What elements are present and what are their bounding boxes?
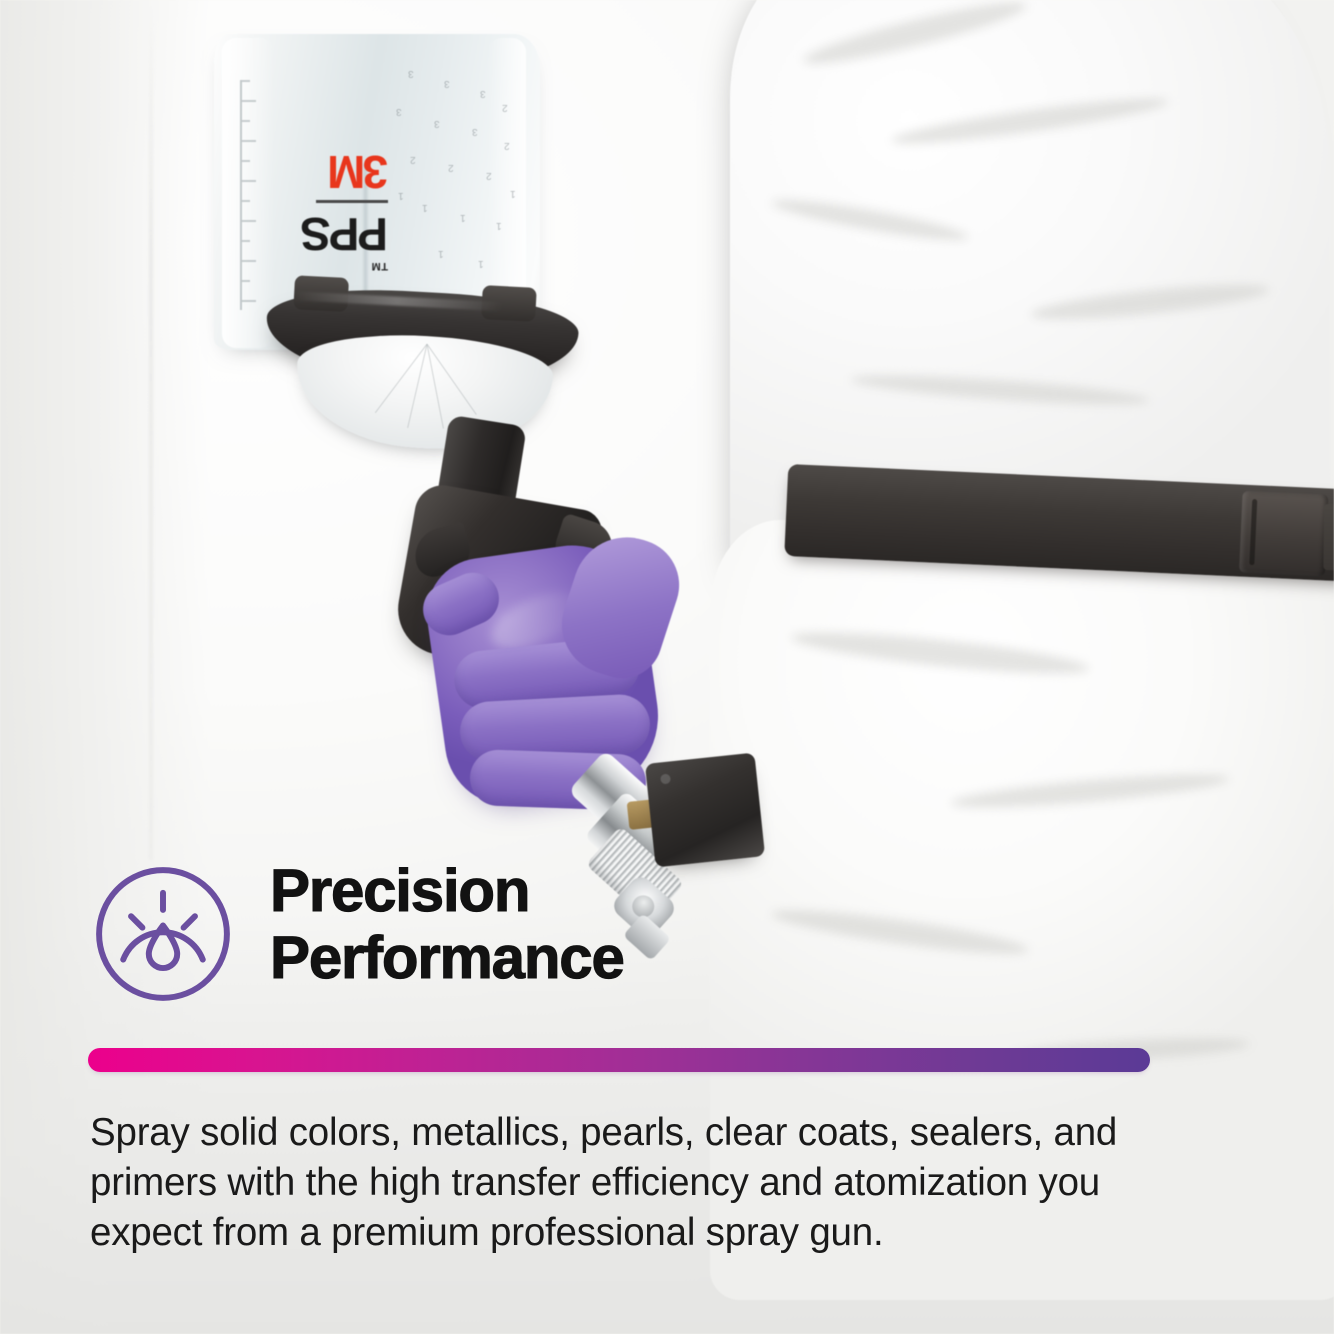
gauge-droplet-icon [92, 863, 234, 1005]
headline-line-2: Performance [270, 924, 624, 991]
text-overlay: Precision Performance Spray solid colors… [0, 0, 1334, 1334]
body-line-1: Spray solid colors, metallics, pearls, c… [90, 1108, 1200, 1158]
body-line-3: expect from a premium professional spray… [90, 1208, 1200, 1258]
product-feature-card: TM PPS 3M 33 33 33 22 22 21 11 11 11 FL. [0, 0, 1334, 1334]
body-copy: Spray solid colors, metallics, pearls, c… [90, 1108, 1200, 1258]
page-title: Precision Performance [270, 855, 624, 991]
headline-row: Precision Performance [92, 855, 752, 1025]
headline-line-1: Precision [270, 857, 624, 924]
gradient-rule [88, 1048, 1150, 1072]
body-line-2: primers with the high transfer efficienc… [90, 1158, 1200, 1208]
